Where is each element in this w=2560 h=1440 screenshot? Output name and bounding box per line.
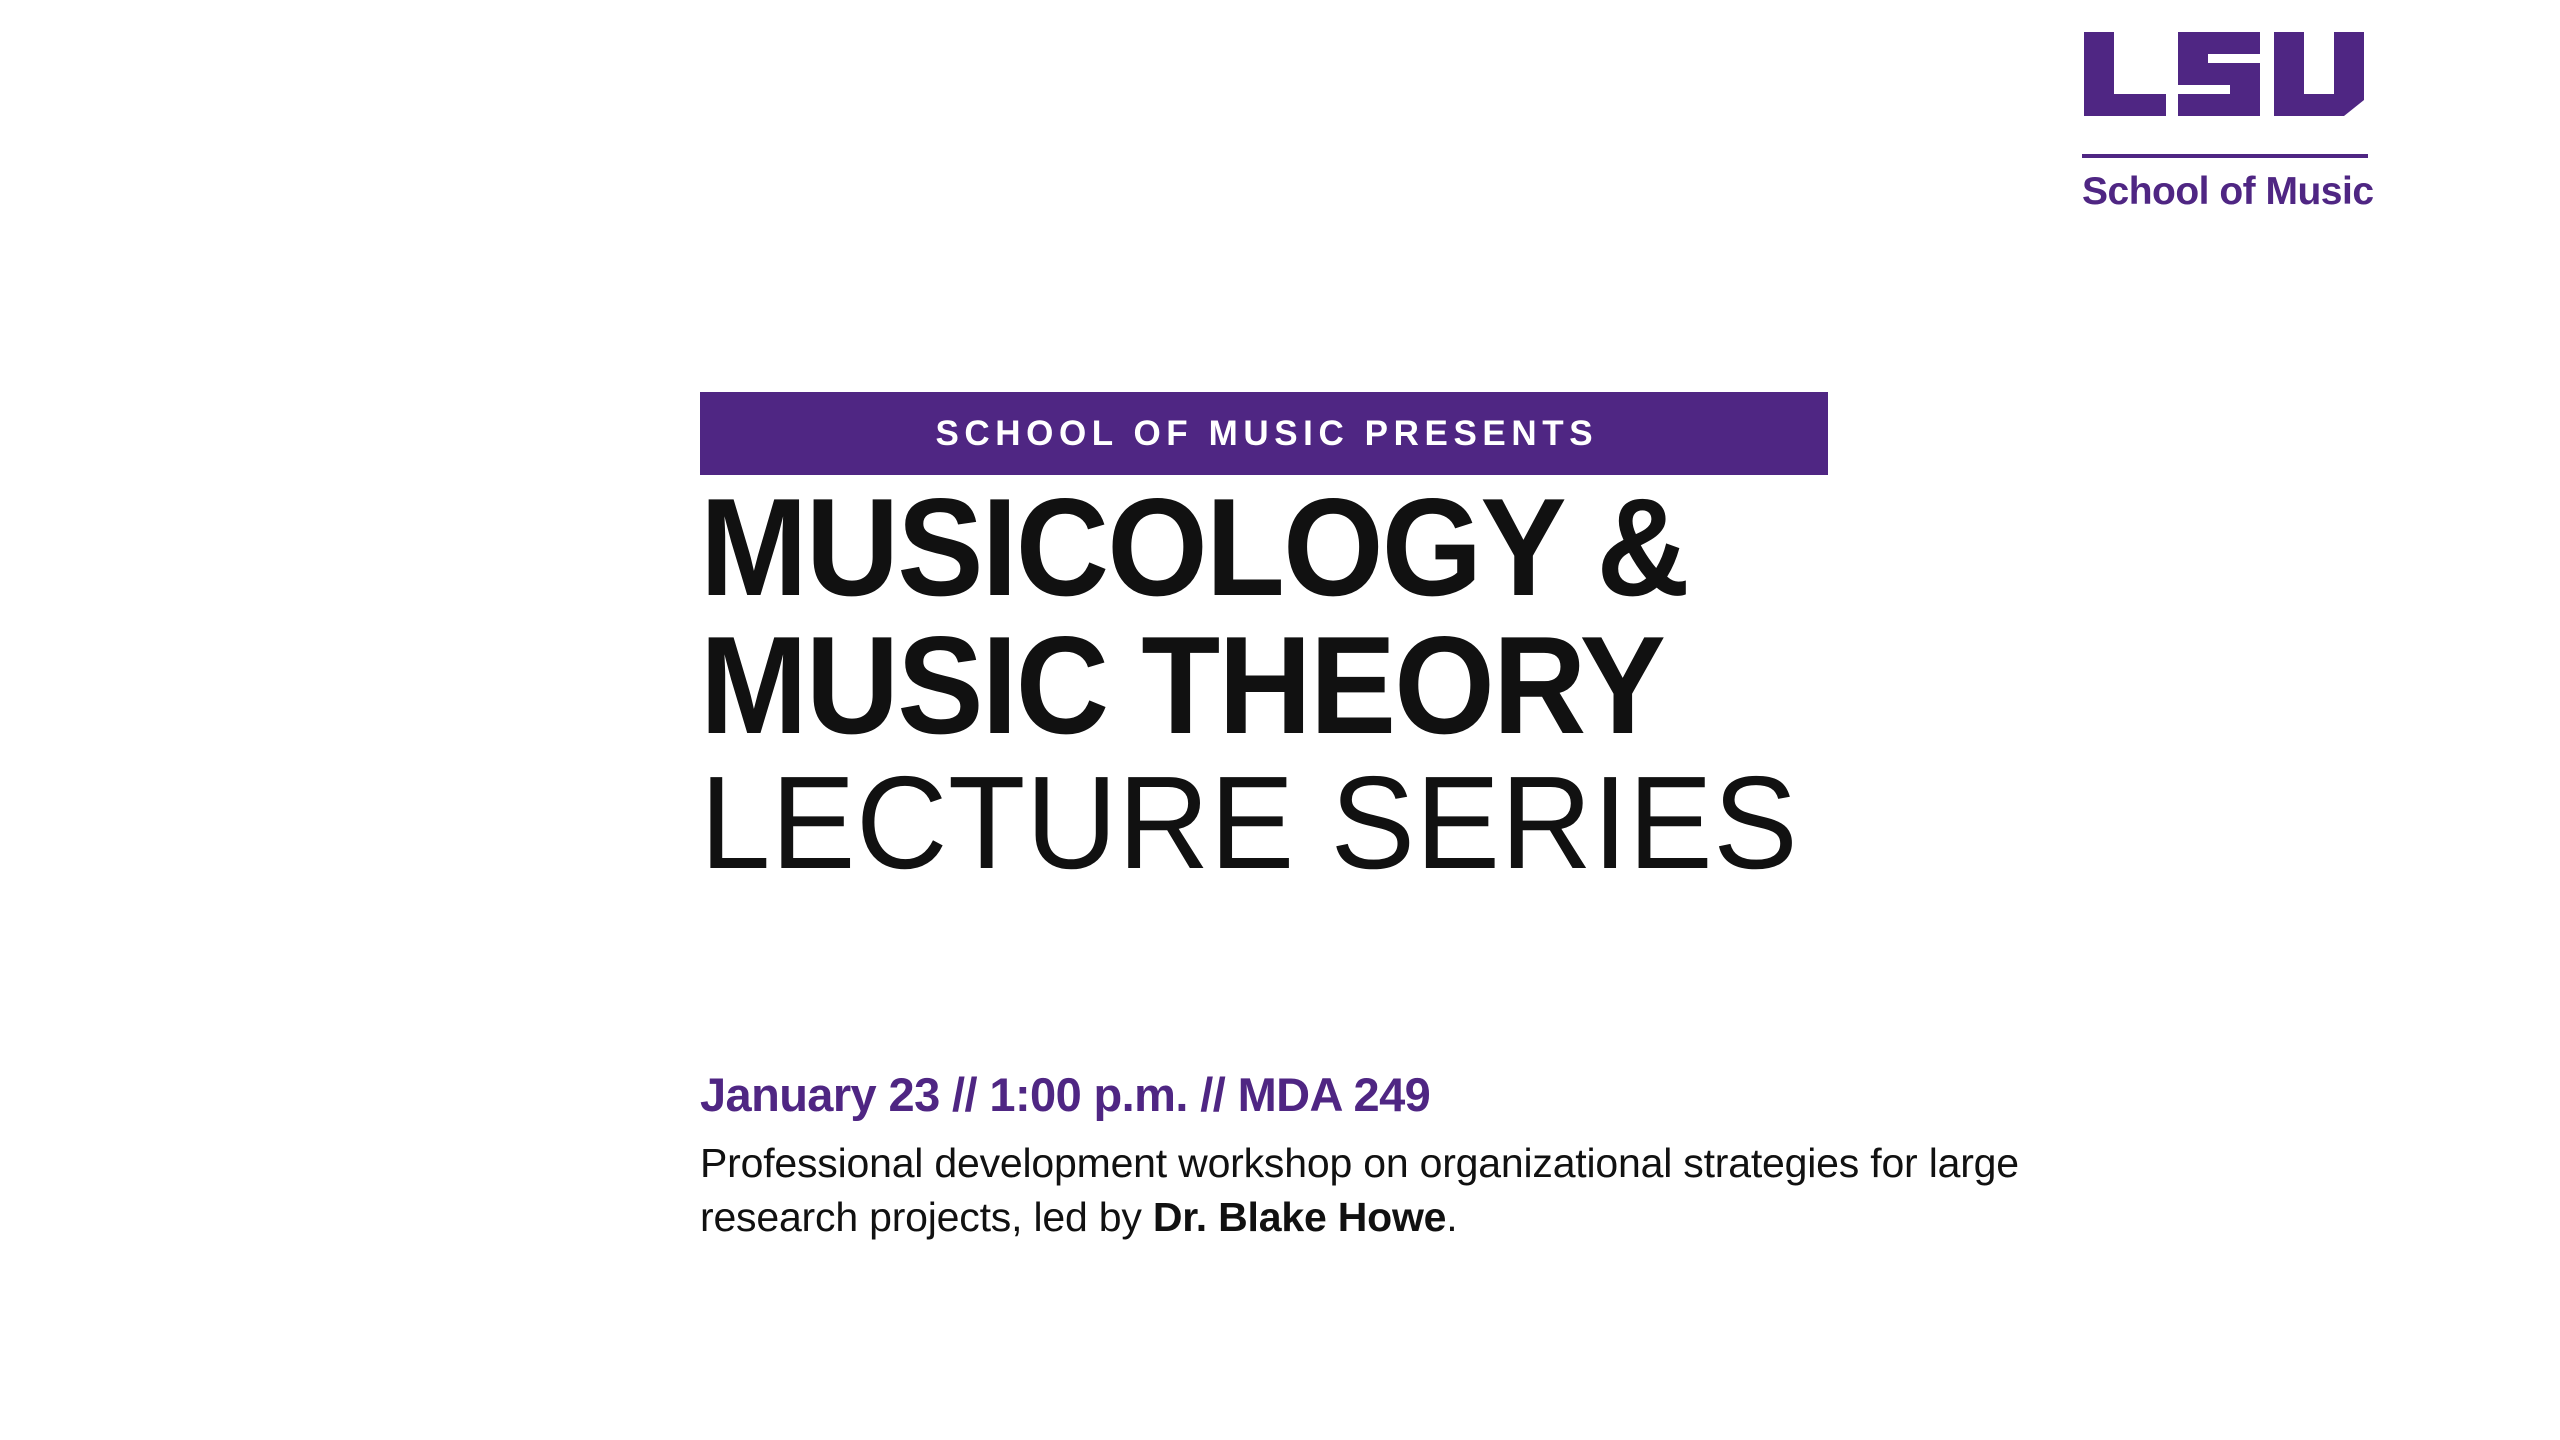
- presents-banner-label: SCHOOL OF MUSIC PRESENTS: [930, 414, 1598, 454]
- event-details: January 23 // 1:00 p.m. // MDA 249 Profe…: [700, 1068, 2020, 1244]
- event-datetime-location: January 23 // 1:00 p.m. // MDA 249: [700, 1068, 2020, 1122]
- headline-line-3: LECTURE SERIES: [700, 758, 1900, 887]
- logo-subtitle: School of Music: [2082, 172, 2368, 211]
- headline-line-1: MUSICOLOGY &: [700, 480, 1863, 616]
- event-description-suffix: .: [1446, 1194, 1457, 1240]
- headline-line-2: MUSIC THEORY: [700, 618, 1863, 754]
- presents-banner: SCHOOL OF MUSIC PRESENTS: [700, 392, 1828, 475]
- logo-divider-rule: [2082, 154, 2368, 158]
- event-description: Professional development workshop on org…: [700, 1136, 2020, 1244]
- event-presenter-name: Dr. Blake Howe: [1153, 1194, 1446, 1240]
- lsu-logo-lockup: School of Music: [2082, 30, 2368, 211]
- page-title: MUSICOLOGY & MUSIC THEORY LECTURE SERIES: [700, 480, 1950, 888]
- lsu-wordmark-icon: [2082, 30, 2368, 118]
